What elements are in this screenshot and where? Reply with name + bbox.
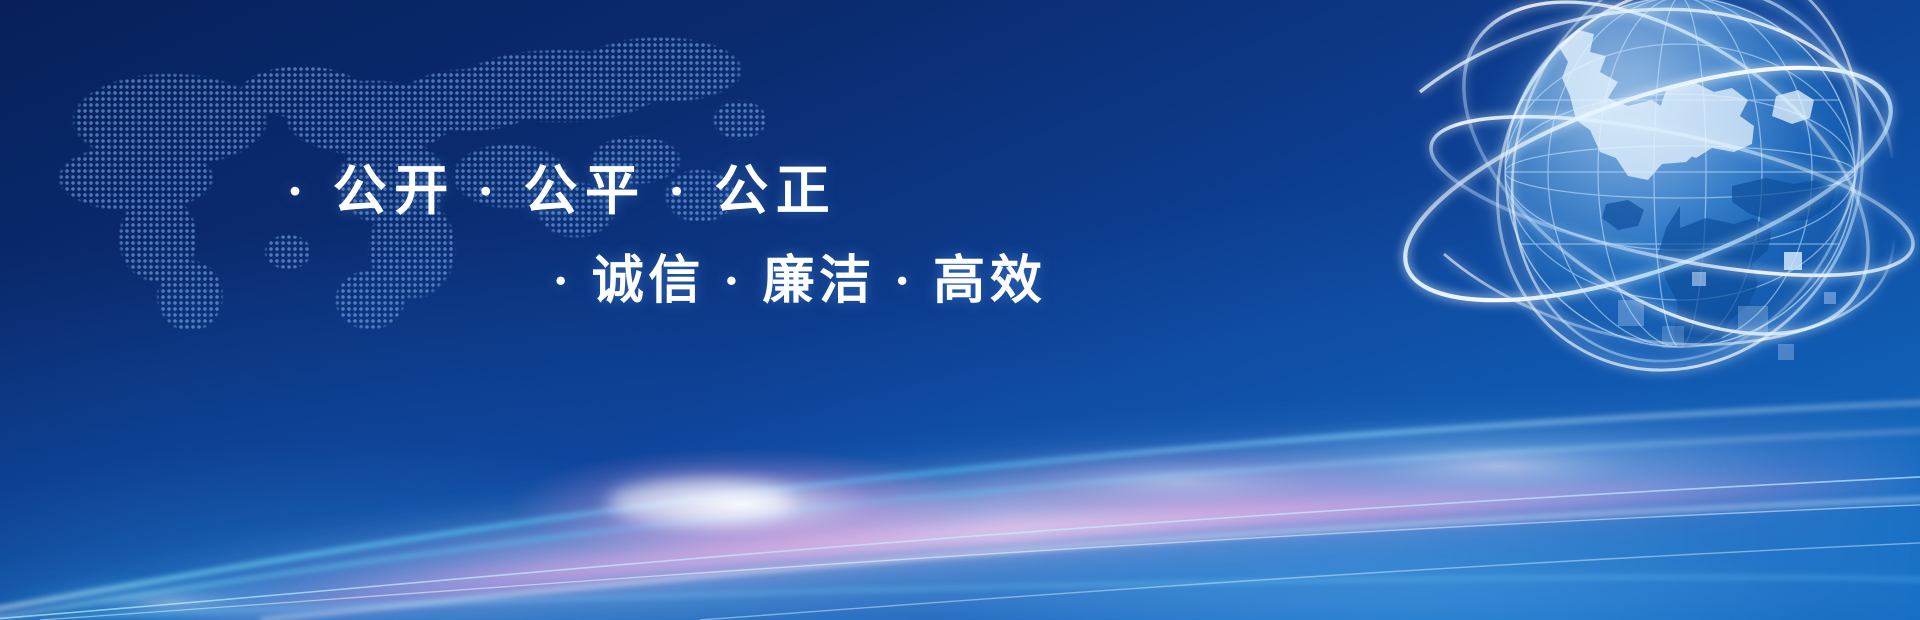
light-wave [0, 290, 1920, 620]
slogan-line-2: · 诚信 · 廉洁 · 高效 [552, 238, 1047, 313]
slogan-line-1: · 公开 · 公平 · 公正 [286, 146, 837, 225]
banner-hero: · 公开 · 公平 · 公正 · 诚信 · 廉洁 · 高效 [0, 0, 1920, 620]
